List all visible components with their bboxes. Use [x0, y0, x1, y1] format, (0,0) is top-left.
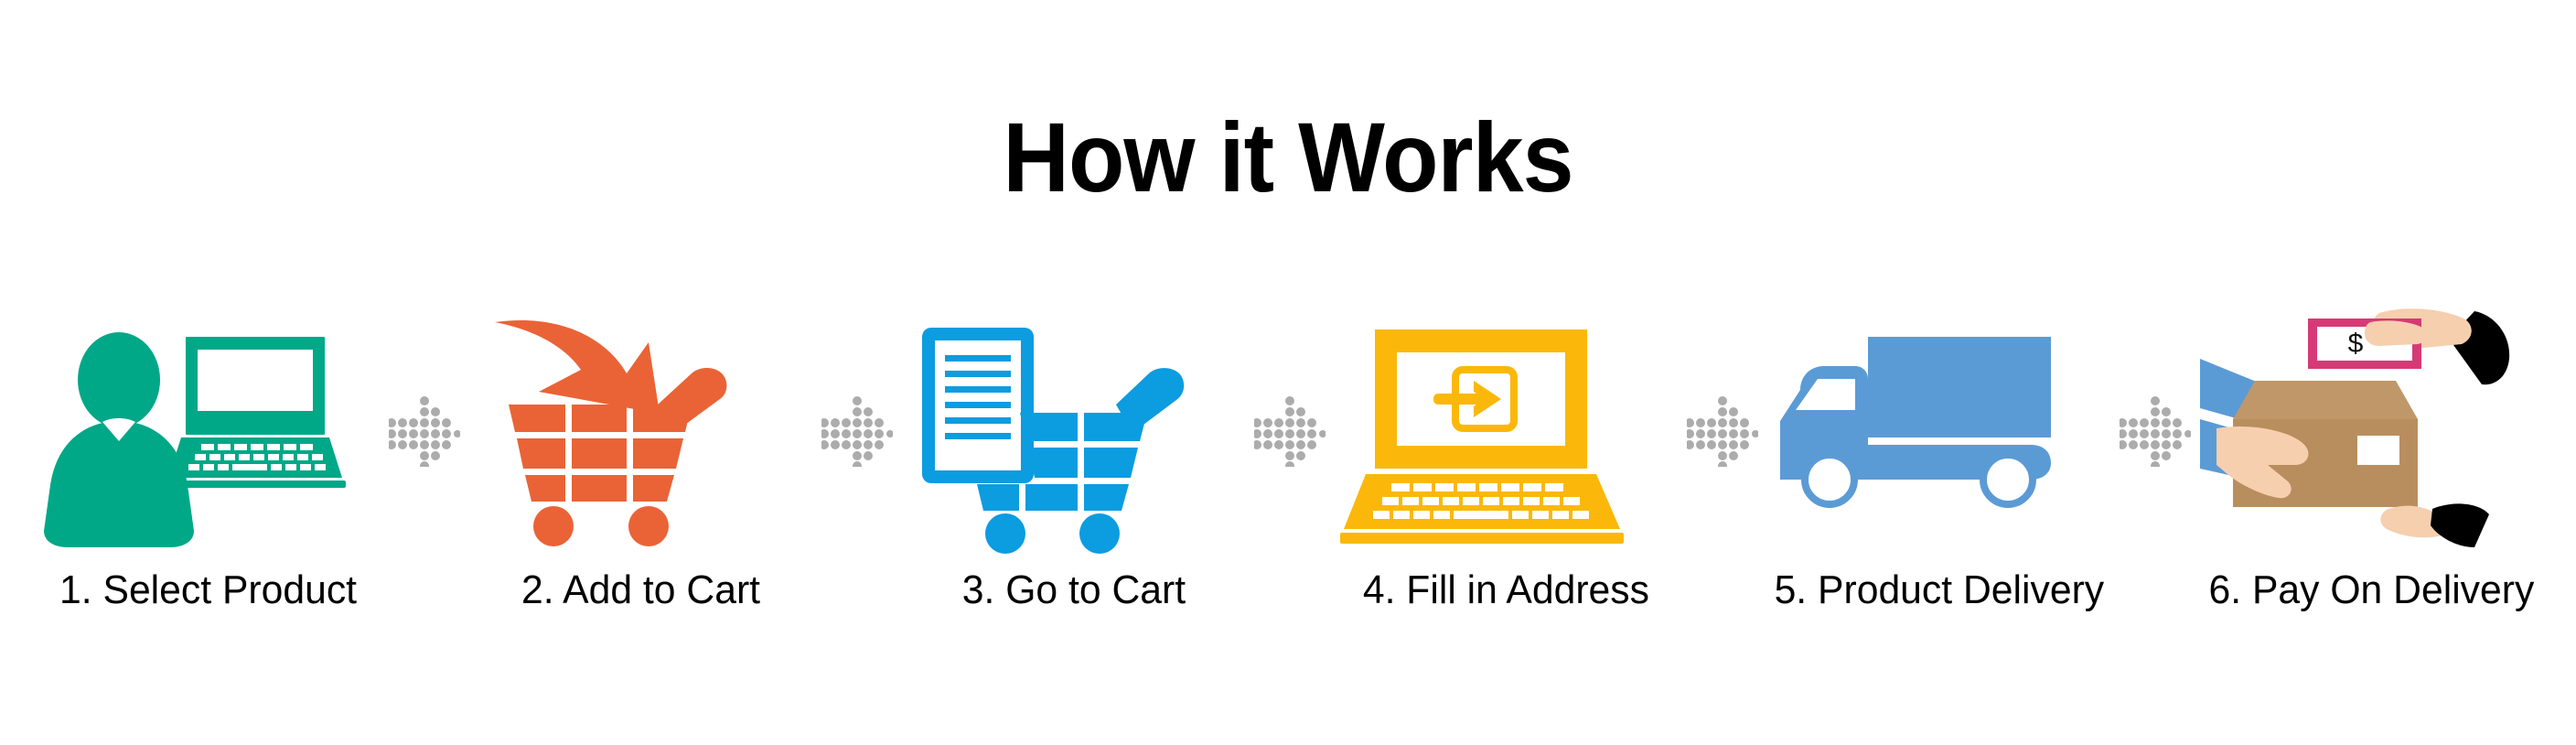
step-5-product-delivery[interactable]: 5. Product Delivery — [1767, 302, 2110, 668]
step-3-label: 3. Go to Cart — [961, 569, 1185, 611]
step-2-add-to-cart[interactable]: 2. Add to Cart — [469, 302, 812, 668]
step-4-fill-in-address[interactable]: 4. Fill in Address — [1335, 302, 1678, 668]
document-with-cart-icon — [902, 302, 1245, 567]
delivery-truck-icon — [1767, 302, 2110, 567]
dotted-arrow-right-icon — [1254, 302, 1326, 668]
cart-with-arrow-icon — [469, 302, 812, 567]
sleeve-black-bottom — [2431, 503, 2489, 547]
step-6-pay-on-delivery[interactable]: $ — [2200, 302, 2543, 668]
step-1-select-product[interactable]: 1. Select Product — [37, 302, 380, 668]
step-4-label: 4. Fill in Address — [1363, 569, 1649, 611]
step-6-label: 6. Pay On Delivery — [2209, 569, 2535, 611]
dotted-arrow-right-icon — [389, 302, 460, 668]
step-3-go-to-cart[interactable]: 3. Go to Cart — [902, 302, 1245, 668]
infographic-page: How it Works — [0, 0, 2576, 745]
hands-box-money-icon: $ — [2200, 302, 2543, 567]
step-1-label: 1. Select Product — [59, 569, 357, 611]
person-with-laptop-icon — [37, 302, 380, 567]
dotted-arrow-right-icon — [2120, 302, 2191, 668]
dotted-arrow-right-icon — [821, 302, 893, 668]
laptop-with-login-icon — [1335, 302, 1678, 567]
dotted-arrow-right-icon — [1687, 302, 1758, 668]
step-5-label: 5. Product Delivery — [1774, 569, 2104, 611]
step-2-label: 2. Add to Cart — [521, 569, 760, 611]
steps-strip: 1. Select Product — [37, 302, 2543, 668]
page-title: How it Works — [91, 108, 2486, 207]
dollar-symbol: $ — [2348, 329, 2364, 359]
